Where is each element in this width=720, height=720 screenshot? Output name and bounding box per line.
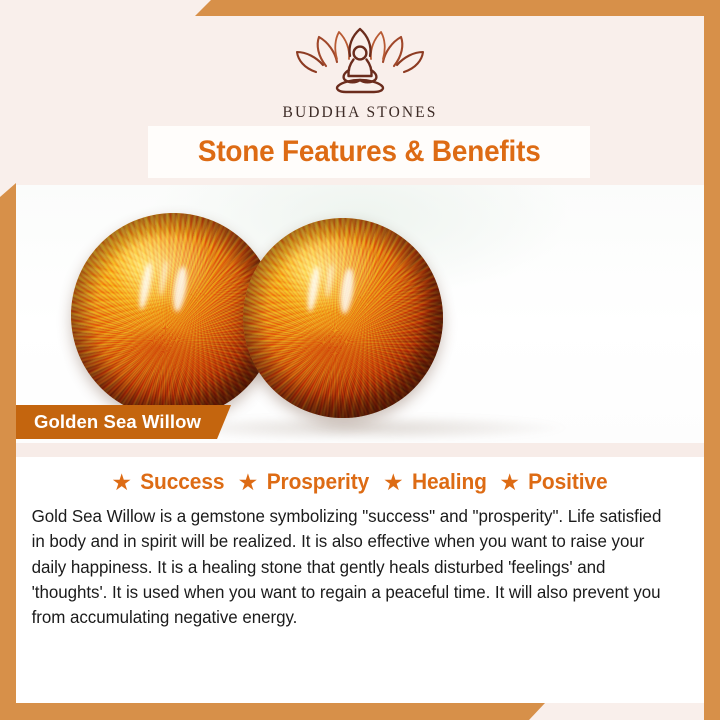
frame-bar-right: [704, 0, 720, 720]
product-info-poster: BUDDHA STONES Stone Features & Benefits: [0, 0, 720, 720]
photo-shadow: [166, 415, 566, 441]
brand-logo: BUDDHA STONES: [245, 26, 475, 122]
lotus-meditation-icon: [290, 26, 430, 98]
frame-bar-top: [195, 0, 720, 16]
product-name-label: Golden Sea Willow: [34, 411, 201, 433]
frame-bar-bottom: [0, 703, 545, 720]
star-icon: ★: [499, 471, 520, 494]
description-text: Gold Sea Willow is a gemstone symbolizin…: [16, 504, 688, 631]
section-separator: [16, 443, 705, 457]
benefit-label: Healing: [412, 469, 487, 495]
product-photo: [16, 185, 705, 443]
title-banner: Stone Features & Benefits: [148, 126, 590, 178]
benefit-label: Success: [140, 469, 224, 495]
description-panel: ★ Success ★ Prosperity ★ Healing ★ Posit…: [16, 457, 705, 703]
star-icon: ★: [111, 471, 132, 494]
benefit-item: ★ Positive: [499, 469, 609, 495]
product-name-badge: Golden Sea Willow: [16, 405, 231, 439]
page-title: Stone Features & Benefits: [198, 135, 541, 169]
benefit-label: Prosperity: [267, 469, 369, 495]
benefit-label: Positive: [528, 469, 607, 495]
benefit-item: ★ Success: [111, 469, 226, 495]
star-icon: ★: [383, 471, 404, 494]
star-icon: ★: [238, 471, 259, 494]
brand-name: BUDDHA STONES: [245, 104, 475, 122]
frame-bar-left: [0, 183, 16, 720]
benefits-row: ★ Success ★ Prosperity ★ Healing ★ Posit…: [16, 469, 705, 495]
benefit-item: ★ Prosperity: [238, 469, 372, 495]
gemstone-sphere-right: [243, 218, 443, 418]
benefit-item: ★ Healing: [383, 469, 488, 495]
